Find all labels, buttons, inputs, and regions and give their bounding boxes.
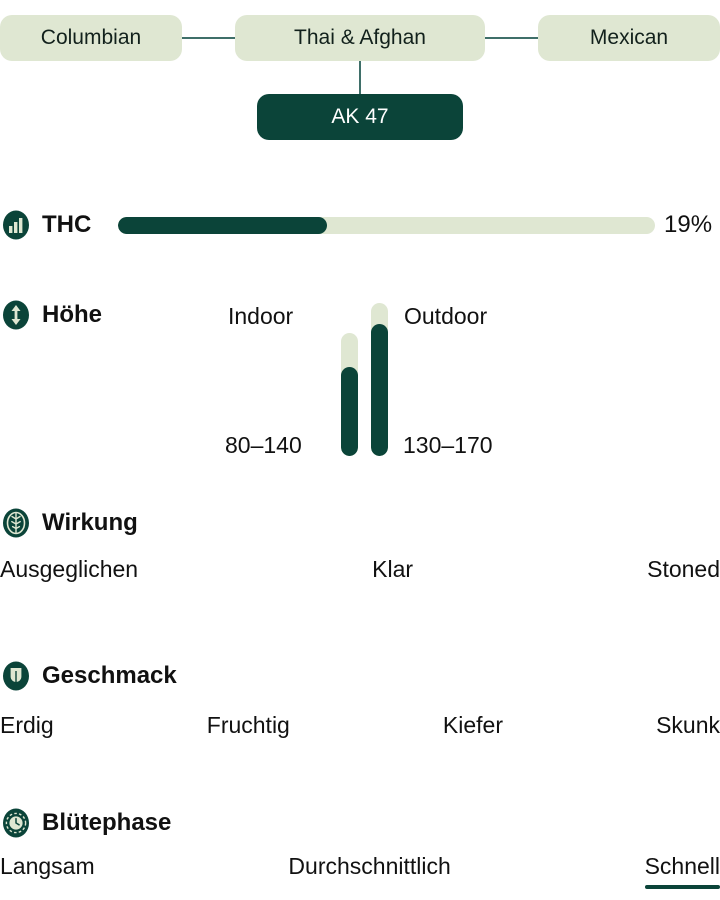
outdoor-height-bar-fill <box>371 324 388 456</box>
indoor-height-bar <box>341 333 358 456</box>
lineage-parent-label: Thai & Afghan <box>294 26 426 50</box>
height-chart: Indoor Outdoor 80–140 130–170 <box>0 285 720 475</box>
effect-option-stoned[interactable]: Stoned <box>647 556 720 592</box>
spacer <box>413 556 647 592</box>
spacer <box>95 853 289 889</box>
strain-name: AK 47 <box>331 105 388 129</box>
spacer <box>290 712 443 748</box>
clock-gear-icon <box>2 808 30 838</box>
spacer <box>451 853 645 889</box>
flowering-options-row: Langsam Durchschnittlich Schnell <box>0 853 720 889</box>
lineage-diagram: Columbian Thai & Afghan Mexican AK 47 <box>0 0 720 160</box>
flavor-options-row: Erdig Fruchtig Kiefer Skunk <box>0 712 720 748</box>
lineage-parent-label: Columbian <box>41 26 141 50</box>
connector-line-left <box>182 37 235 39</box>
flavor-option-fruchtig[interactable]: Fruchtig <box>207 712 290 748</box>
effect-option-klar[interactable]: Klar <box>372 556 413 592</box>
indoor-label: Indoor <box>228 303 293 330</box>
spacer <box>138 556 372 592</box>
flavor-label: Geschmack <box>42 662 177 690</box>
flowering-section-header: Blütephase <box>2 808 171 838</box>
flavor-option-kiefer[interactable]: Kiefer <box>443 712 503 748</box>
effect-option-ausgeglichen[interactable]: Ausgeglichen <box>0 556 138 592</box>
indoor-height-bar-fill <box>341 367 358 456</box>
flowering-option-langsam[interactable]: Langsam <box>0 853 95 889</box>
thc-value: 19% <box>664 211 712 239</box>
flavor-section-header: Geschmack <box>2 661 177 691</box>
lineage-parent-mexican[interactable]: Mexican <box>538 15 720 61</box>
spacer <box>503 712 656 748</box>
indoor-range-value: 80–140 <box>225 432 302 459</box>
connector-line-right <box>485 37 538 39</box>
thc-section-header: THC <box>2 210 91 240</box>
flavor-option-erdig[interactable]: Erdig <box>0 712 54 748</box>
bar-chart-icon <box>2 210 30 240</box>
thc-progress-bar <box>118 217 655 234</box>
outdoor-label: Outdoor <box>404 303 487 330</box>
thc-progress-fill <box>118 217 327 234</box>
spacer <box>54 712 207 748</box>
flowering-option-durchschnittlich[interactable]: Durchschnittlich <box>288 853 450 889</box>
brain-icon <box>2 508 30 538</box>
flowering-label: Blütephase <box>42 809 171 837</box>
outdoor-range-value: 130–170 <box>403 432 493 459</box>
outdoor-height-bar <box>371 303 388 456</box>
flowering-option-schnell[interactable]: Schnell <box>645 853 720 889</box>
lineage-parent-columbian[interactable]: Columbian <box>0 15 182 61</box>
effect-options-row: Ausgeglichen Klar Stoned <box>0 556 720 592</box>
tongue-icon <box>2 661 30 691</box>
effect-section-header: Wirkung <box>2 508 138 538</box>
lineage-parent-thai-afghan[interactable]: Thai & Afghan <box>235 15 485 61</box>
strain-chip[interactable]: AK 47 <box>257 94 463 140</box>
flavor-option-skunk[interactable]: Skunk <box>656 712 720 748</box>
thc-label: THC <box>42 211 91 239</box>
lineage-parent-label: Mexican <box>590 26 668 50</box>
effect-label: Wirkung <box>42 509 138 537</box>
